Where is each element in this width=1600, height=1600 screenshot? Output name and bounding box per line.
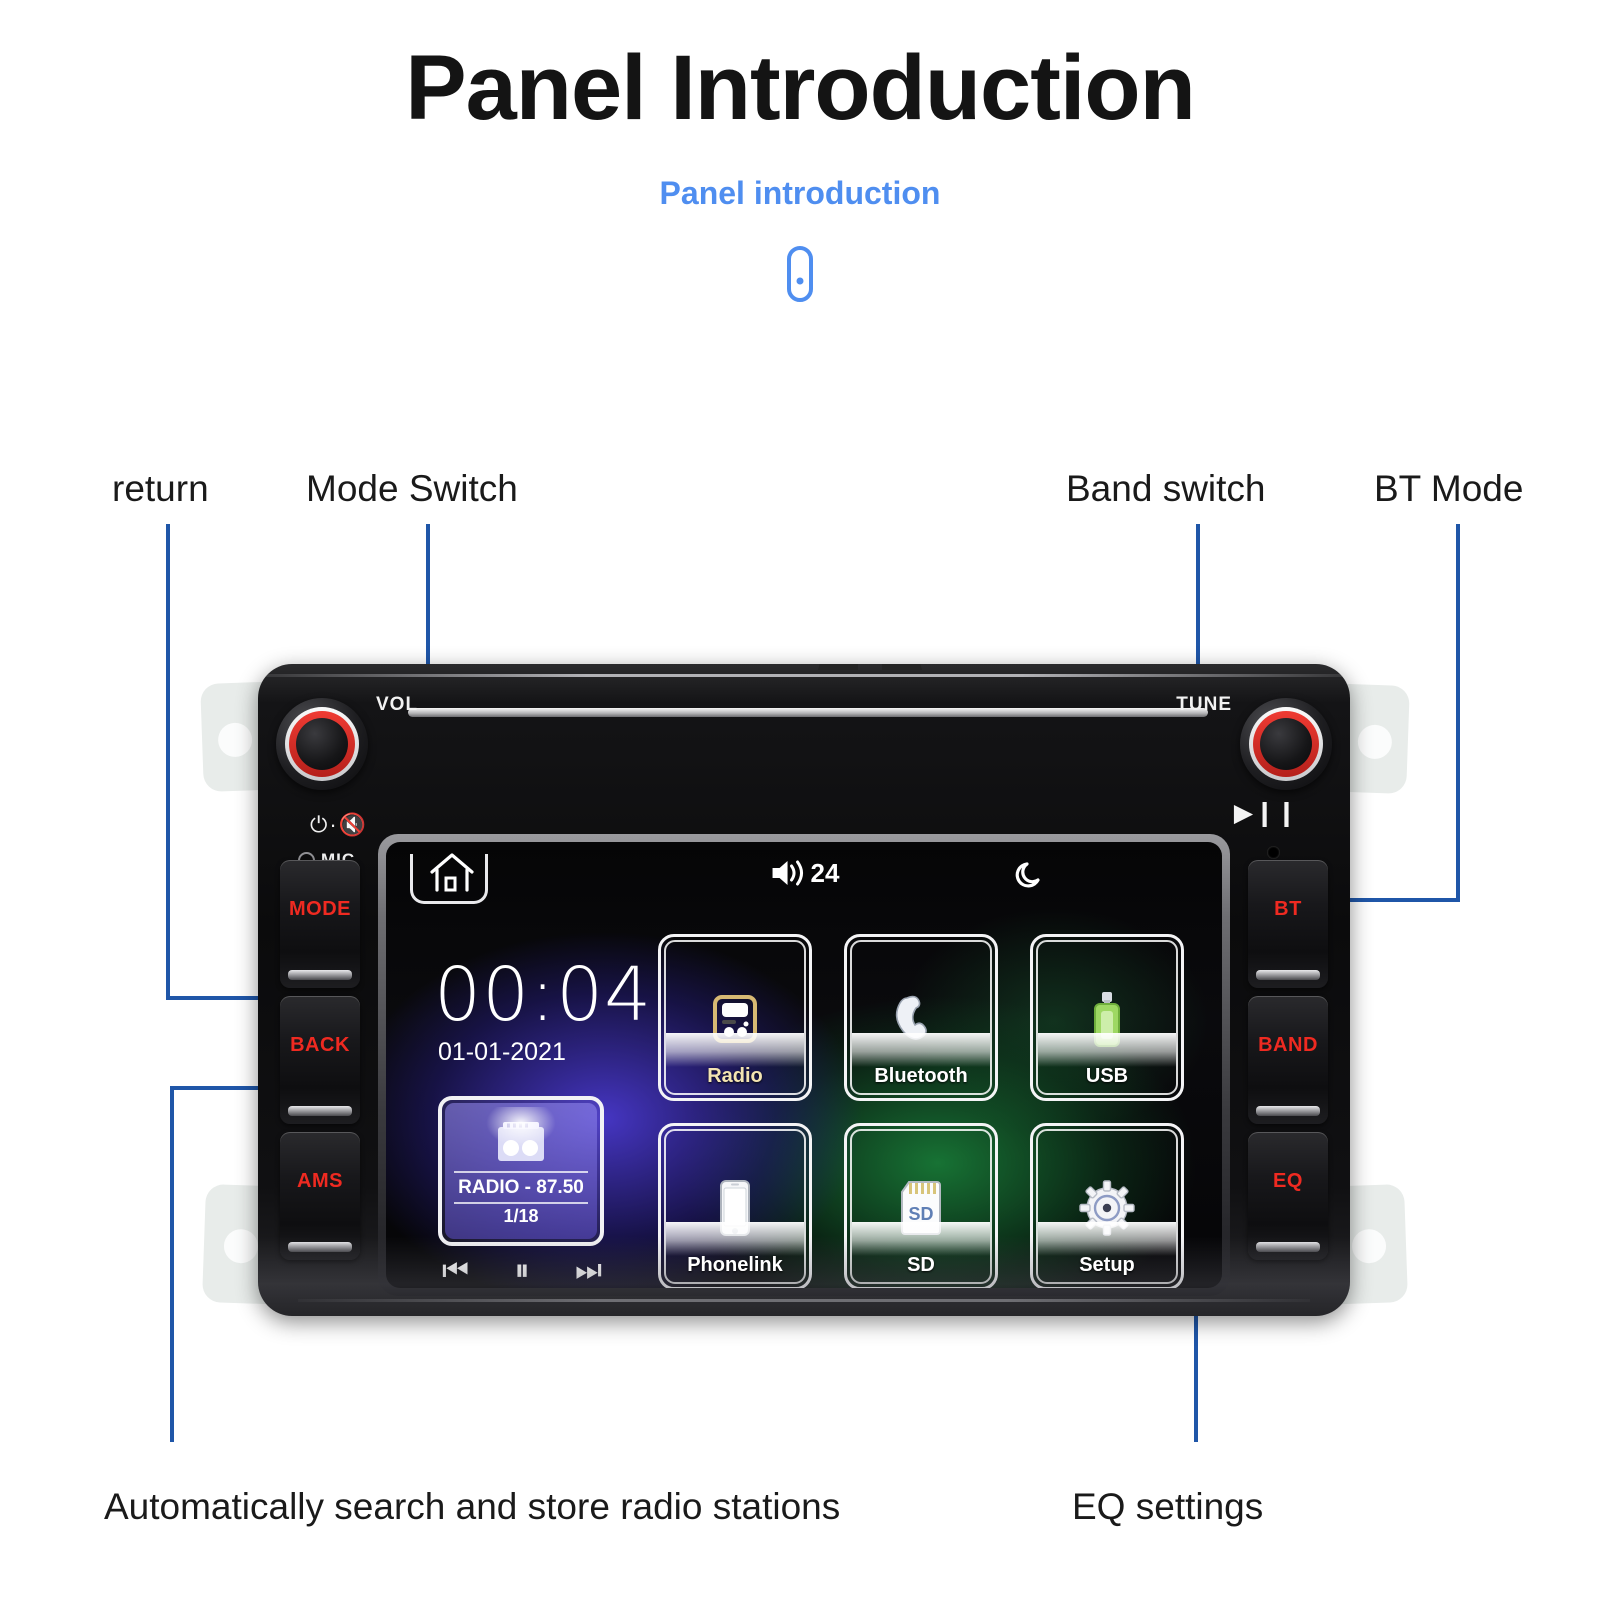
knob-cap	[296, 718, 348, 770]
now-playing-widget[interactable]: RADIO - 87.50 1/18	[438, 1096, 604, 1246]
play-pause-icon: ▶❙❙	[1234, 798, 1298, 828]
key-mode-label: MODE	[289, 898, 351, 921]
app-label-radio: Radio	[666, 1065, 804, 1088]
home-button[interactable]	[410, 854, 488, 904]
phone-icon	[718, 1177, 752, 1239]
app-tile-inner: SD SD	[850, 1129, 992, 1284]
key-back-label: BACK	[290, 1034, 350, 1057]
clock-time: 00:04	[434, 960, 652, 1031]
power-mute-icon: ⏻·🔇	[310, 812, 368, 838]
clock-widget: 00:04 01-01-2021	[434, 960, 652, 1067]
pause-button[interactable]: ⏸	[515, 1256, 530, 1286]
key-ams[interactable]: AMS	[280, 1132, 360, 1260]
device-outline-icon	[787, 246, 813, 302]
callout-label-eq: EQ settings	[1072, 1486, 1263, 1528]
lcd-touchscreen[interactable]: 24 00:04 01-01-2021	[386, 842, 1222, 1288]
handset-icon	[893, 988, 949, 1050]
reset-pinhole	[1267, 846, 1280, 859]
right-key-column: BT BAND EQ	[1248, 860, 1328, 1260]
now-playing-inner: RADIO - 87.50 1/18	[445, 1103, 597, 1239]
car-stereo-head-unit: VOL TUNE ⏻·🔇 MIC ▶❙❙ MODE BACK AMS BT	[196, 640, 1412, 1340]
stereo-chassis: VOL TUNE ⏻·🔇 MIC ▶❙❙ MODE BACK AMS BT	[258, 664, 1350, 1316]
chassis-tab-left	[818, 664, 858, 670]
app-tile-inner: Bluetooth	[850, 940, 992, 1095]
radio-icon	[711, 988, 759, 1050]
app-tile-inner: Phonelink	[664, 1129, 806, 1284]
chassis-bottom-edge	[298, 1299, 1310, 1302]
knob-cap	[1260, 718, 1312, 770]
svg-text:SD: SD	[908, 1204, 933, 1224]
app-tile-inner: Radio	[664, 940, 806, 1095]
screen-status-bar: 24	[386, 842, 1222, 916]
now-playing-preset: 1/18	[454, 1202, 588, 1227]
app-tile-inner: Setup	[1036, 1129, 1178, 1284]
bracket-hole	[1351, 1229, 1386, 1264]
app-tile-phonelink[interactable]: Phonelink	[658, 1123, 812, 1288]
app-label-sd: SD	[852, 1254, 990, 1277]
home-icon	[427, 850, 477, 896]
tune-knob-label: TUNE	[1176, 694, 1232, 716]
app-tile-setup[interactable]: Setup	[1030, 1123, 1184, 1288]
key-band-label: BAND	[1258, 1034, 1318, 1057]
chrome-accent-strip	[408, 708, 1208, 717]
key-bt-label: BT	[1274, 898, 1302, 921]
previous-track-button[interactable]: ⏮	[442, 1256, 469, 1286]
page-header: Panel Introduction Panel introduction	[0, 0, 1600, 302]
now-playing-station: RADIO - 87.50	[454, 1171, 588, 1199]
radio-icon	[492, 1117, 550, 1165]
callout-label-mode-switch: Mode Switch	[306, 468, 518, 510]
app-label-usb: USB	[1038, 1065, 1176, 1088]
page-title: Panel Introduction	[0, 38, 1600, 139]
tune-knob[interactable]	[1240, 698, 1332, 790]
sd-card-icon: SD	[899, 1177, 943, 1239]
callout-label-band-switch: Band switch	[1066, 468, 1266, 510]
callout-label-return: return	[112, 468, 209, 510]
lcd-bezel: 24 00:04 01-01-2021	[378, 834, 1230, 1296]
speaker-icon	[769, 856, 809, 890]
volume-indicator: 24	[769, 856, 840, 890]
bracket-hole	[1357, 724, 1392, 759]
app-tile-bluetooth[interactable]: Bluetooth	[844, 934, 998, 1101]
gear-icon	[1078, 1177, 1136, 1239]
app-label-phonelink: Phonelink	[666, 1254, 804, 1277]
moon-icon[interactable]	[1013, 858, 1047, 892]
next-track-button[interactable]: ⏭	[575, 1256, 602, 1286]
volume-knob[interactable]	[276, 698, 368, 790]
bracket-hole	[223, 1229, 258, 1264]
chassis-top-edge	[258, 674, 1350, 677]
callout-label-ams: Automatically search and store radio sta…	[104, 1486, 840, 1528]
key-bt[interactable]: BT	[1248, 860, 1328, 988]
page-subtitle: Panel introduction	[0, 175, 1600, 212]
chassis-tab-right	[882, 664, 922, 670]
app-tile-sd[interactable]: SD SD	[844, 1123, 998, 1288]
bracket-hole	[218, 722, 253, 757]
key-band[interactable]: BAND	[1248, 996, 1328, 1124]
key-eq-label: EQ	[1273, 1170, 1303, 1193]
vol-knob-label: VOL	[376, 694, 418, 716]
app-grid: Radio Bluetooth	[658, 934, 1184, 1288]
transport-controls: ⏮ ⏸ ⏭	[442, 1256, 602, 1286]
app-tile-inner: USB	[1036, 940, 1178, 1095]
left-key-column: MODE BACK AMS	[280, 860, 360, 1260]
callout-label-bt-mode: BT Mode	[1374, 468, 1523, 510]
clock-date: 01-01-2021	[438, 1038, 652, 1067]
key-eq[interactable]: EQ	[1248, 1132, 1328, 1260]
key-ams-label: AMS	[297, 1170, 343, 1193]
app-tile-usb[interactable]: USB	[1030, 934, 1184, 1101]
volume-value: 24	[811, 858, 840, 889]
key-back[interactable]: BACK	[280, 996, 360, 1124]
app-label-setup: Setup	[1038, 1254, 1176, 1277]
key-mode[interactable]: MODE	[280, 860, 360, 988]
app-tile-radio[interactable]: Radio	[658, 934, 812, 1101]
app-label-bluetooth: Bluetooth	[852, 1065, 990, 1088]
usb-drive-icon	[1089, 988, 1125, 1050]
